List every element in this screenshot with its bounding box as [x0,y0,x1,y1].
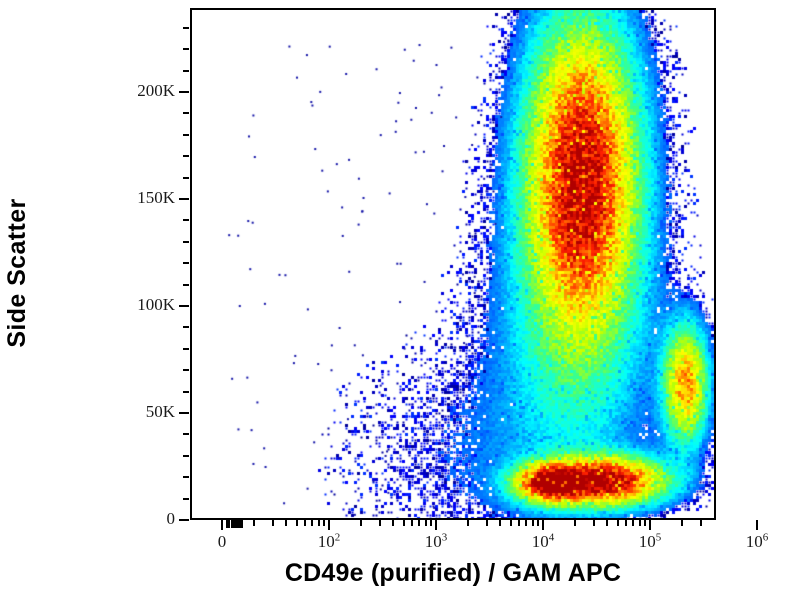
y-tick-label: 100K [115,295,175,315]
y-tick-minor [183,326,189,328]
y-tick-minor [183,70,189,72]
y-tick-label: 50K [115,402,175,422]
x-tick-minor [296,520,298,526]
x-tick-minor [467,520,469,526]
x-axis-title: CD49e (purified) / GAM APC [190,559,716,588]
x-tick-major [328,520,330,530]
x-tick-minor [617,520,619,526]
x-tick-minor [411,520,413,526]
x-tick-major [756,520,758,530]
density-scatter-canvas [192,10,714,518]
x-tick-minor [639,520,641,526]
x-tick-label: 106 [722,532,792,552]
x-tick-major [542,520,544,530]
y-tick-minor [183,155,189,157]
x-tick-major [435,520,437,530]
x-tick-minor [318,520,320,526]
x-tick-minor [510,520,512,526]
x-tick-minor [403,520,405,526]
x-tick-minor [632,520,634,526]
flow-cytometry-figure: Side Scatter 050K100K150K200K 0102103104… [0,0,800,600]
x-tick-minor [285,520,287,526]
x-tick-minor [700,520,702,526]
y-tick-minor [183,476,189,478]
y-tick-minor [183,48,189,50]
x-tick-minor [253,520,255,526]
x-tick-minor [593,520,595,526]
y-tick-label-holder: 100K [110,295,175,315]
x-tick-label: 102 [294,532,364,552]
x-tick-minor [425,520,427,526]
x-tick-minor [430,520,432,526]
y-tick-major [179,305,189,307]
x-tick-major [221,520,223,530]
x-tick-minor [418,520,420,526]
y-tick-minor [183,177,189,179]
y-tick-minor [183,27,189,29]
x-tick-minor [525,520,527,526]
y-tick-minor [183,348,189,350]
x-tick-minor [625,520,627,526]
y-tick-minor [183,284,189,286]
y-axis-title: Side Scatter [0,17,34,529]
x-tick-minor [486,520,488,526]
x-tick-minor [392,520,394,526]
x-tick-minor [239,520,243,528]
y-tick-label: 150K [115,188,175,208]
y-tick-minor [183,262,189,264]
y-tick-minor [183,369,189,371]
y-tick-minor [183,219,189,221]
x-tick-major [649,520,651,530]
x-tick-label: 0 [187,532,257,552]
y-tick-minor [183,241,189,243]
y-tick-major [179,412,189,414]
y-tick-major [179,198,189,200]
y-tick-minor [183,498,189,500]
y-tick-minor [183,433,189,435]
x-tick-minor [537,520,539,526]
x-tick-minor [644,520,646,526]
x-tick-minor [606,520,608,526]
x-tick-label: 104 [508,532,578,552]
x-tick-minor [532,520,534,526]
x-tick-label: 105 [615,532,685,552]
y-tick-major [179,91,189,93]
plot-area [190,8,716,520]
y-tick-minor [183,455,189,457]
y-tick-label: 0 [115,509,175,529]
x-tick-minor [499,520,501,526]
x-tick-minor [272,520,274,526]
y-tick-minor [183,112,189,114]
y-tick-label: 200K [115,81,175,101]
x-tick-minor [323,520,325,526]
y-tick-label-holder: 200K [110,81,175,101]
x-tick-minor [304,520,306,526]
y-tick-label-holder: 0 [110,509,175,529]
x-tick-minor [518,520,520,526]
y-tick-minor [183,134,189,136]
y-tick-major [179,519,189,521]
x-tick-minor [360,520,362,526]
x-tick-minor [574,520,576,526]
x-tick-minor [379,520,381,526]
y-tick-minor [183,391,189,393]
y-tick-label-holder: 50K [110,402,175,422]
x-tick-label: 103 [401,532,471,552]
x-tick-minor [311,520,313,526]
x-tick-minor [681,520,683,526]
y-tick-label-holder: 150K [110,188,175,208]
x-tick-minor [226,520,230,528]
